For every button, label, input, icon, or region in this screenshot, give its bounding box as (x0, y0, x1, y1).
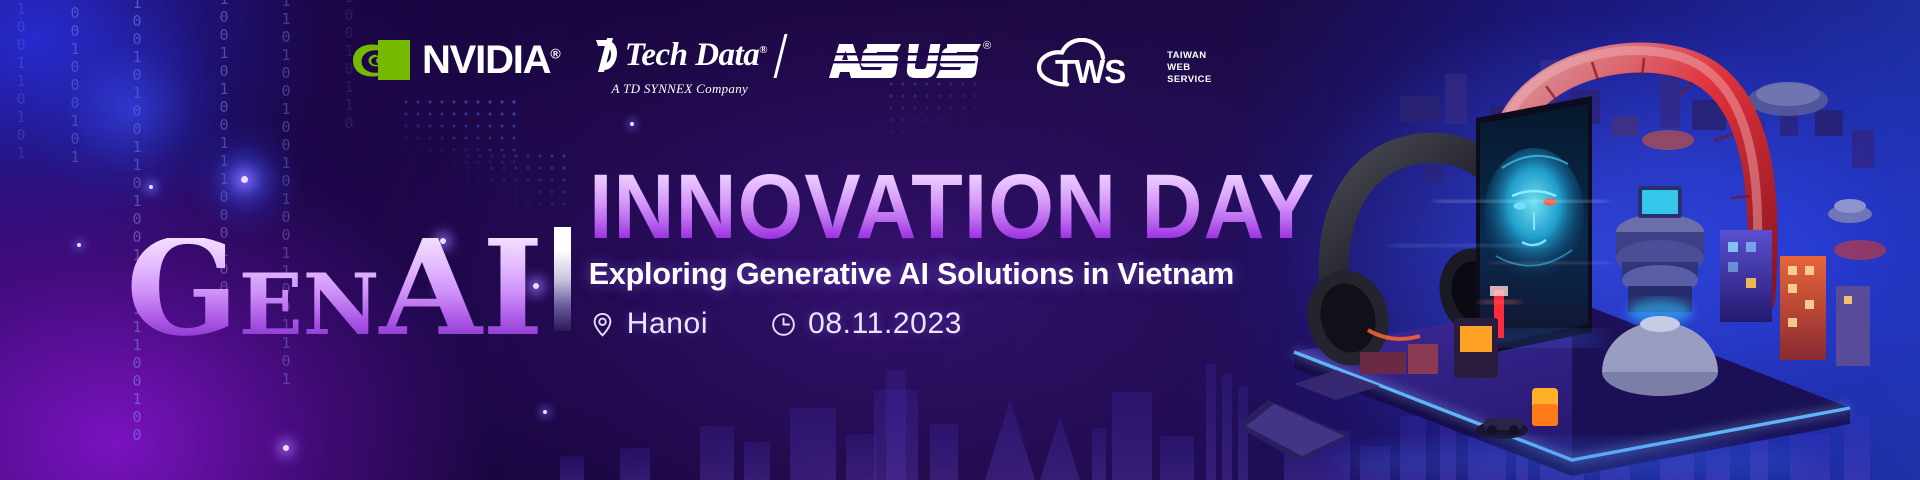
sponsor-logo-row: NVIDIA® Tech Data® A TD SYNNEX Company (350, 38, 1212, 97)
binary-column: 0100110101 (12, 0, 29, 162)
sponsor-logo-nvidia[interactable]: NVIDIA® (350, 38, 561, 82)
tws-tagline-line: WEB (1167, 62, 1212, 74)
techdata-tagline: A TD SYNNEX Company (612, 81, 749, 97)
clock-icon (770, 311, 797, 338)
page-title: INNOVATION DAY (589, 168, 1315, 247)
asus-logotype-icon (829, 38, 981, 84)
page-subtitle: Exploring Generative AI Solutions in Vie… (589, 257, 1378, 292)
genai-innovation-day-banner: 0001000101 1001010011010010011100100 100… (0, 0, 1920, 480)
sponsor-logo-tws[interactable]: TWS TAIWAN WEB SERVICE (1033, 38, 1212, 90)
registered-mark: ® (550, 46, 560, 62)
sparkle-dot (77, 243, 81, 247)
genai-letters-ai: AI (380, 211, 544, 366)
event-location-value: Hanoi (627, 307, 708, 341)
tws-wordmark-text: TWS (1055, 53, 1125, 90)
genai-letters-en: EN (239, 255, 380, 354)
event-date: 08.11.2023 (770, 307, 962, 341)
genai-letter-g: G (126, 211, 239, 366)
sponsor-logo-tech-data[interactable]: Tech Data® A TD SYNNEX Company (593, 38, 767, 97)
techdata-wordmark-text: Tech Data (625, 37, 760, 73)
nvidia-eye-icon (350, 38, 412, 82)
tws-cloud-icon: TWS (1033, 38, 1161, 90)
headline-right-block: INNOVATION DAY Exploring Generative AI S… (589, 168, 1378, 341)
event-location: Hanoi (589, 307, 708, 341)
event-date-value: 08.11.2023 (808, 307, 962, 341)
headline-block: GENAI INNOVATION DAY Exploring Generativ… (126, 168, 1378, 341)
sparkle-dot (630, 122, 634, 126)
location-pin-icon (589, 311, 616, 338)
nvidia-wordmark-text: NVIDIA (422, 38, 550, 82)
vertical-divider-bar (554, 227, 571, 331)
techdata-wordmark: Tech Data® (625, 39, 767, 72)
sponsor-logo-asus[interactable]: ® (829, 38, 991, 84)
tws-tagline-line: SERVICE (1167, 74, 1212, 86)
tws-tagline: TAIWAN WEB SERVICE (1167, 50, 1212, 86)
techdata-d-icon (593, 38, 619, 72)
techdata-slash-divider (773, 34, 787, 78)
event-meta-row: Hanoi 08.11.2023 (589, 307, 1378, 341)
genai-logotype: GENAI (126, 238, 544, 341)
registered-mark: ® (759, 44, 767, 56)
nvidia-wordmark: NVIDIA® (422, 40, 561, 80)
tws-tagline-line: TAIWAN (1167, 50, 1212, 62)
registered-mark: ® (983, 40, 991, 52)
